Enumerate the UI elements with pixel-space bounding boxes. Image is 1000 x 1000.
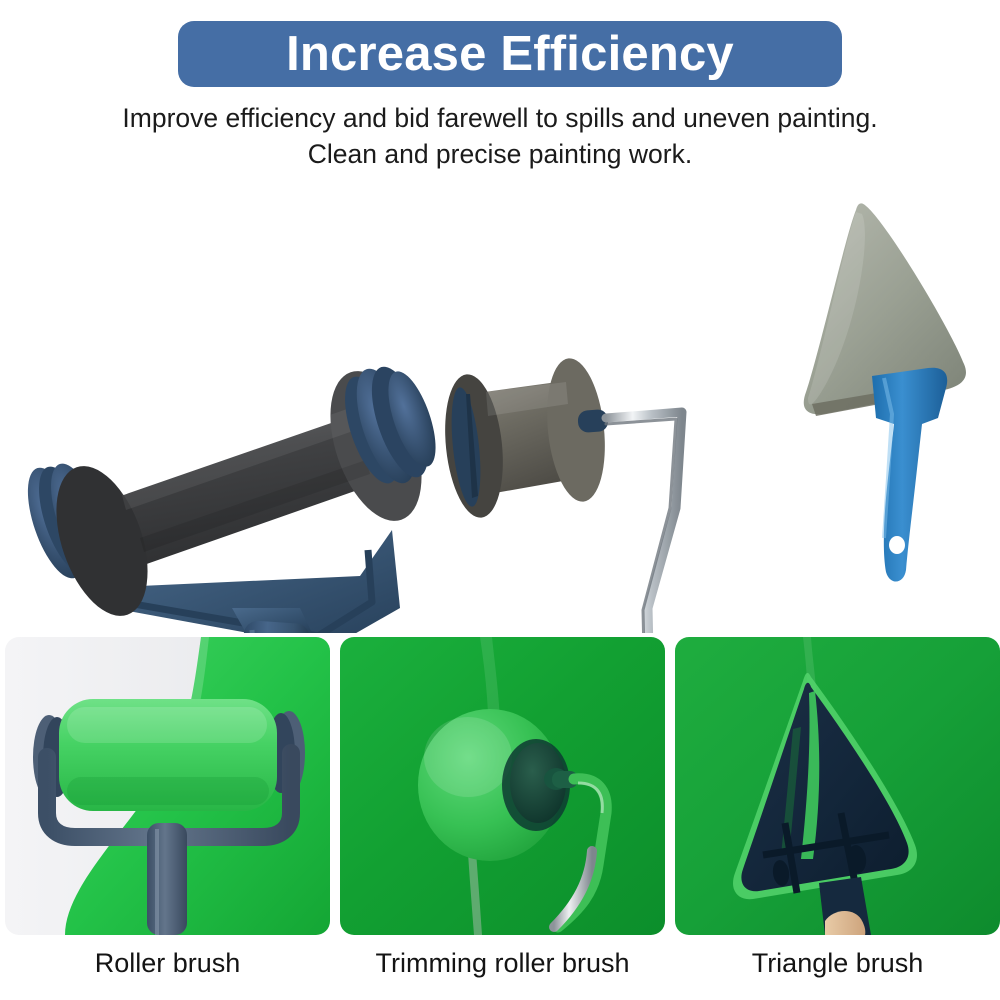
subtitle-line-1: Improve efficiency and bid farewell to s… — [0, 100, 1000, 136]
triangle-brush-hang-hole — [889, 536, 905, 554]
title-banner: Increase Efficiency — [178, 21, 842, 87]
product-roller-brush — [16, 359, 445, 633]
trimming-roller-wire-frame — [606, 412, 682, 633]
usage-photo-row — [0, 637, 1000, 935]
panel-captions: Roller brush Trimming roller brush Trian… — [0, 943, 1000, 993]
subtitle-line-2: Clean and precise painting work. — [0, 136, 1000, 172]
caption-trimming-roller-brush: Trimming roller brush — [340, 943, 665, 983]
hero-product-row — [0, 178, 1000, 633]
caption-triangle-brush: Triangle brush — [675, 943, 1000, 983]
product-feature-image: Increase Efficiency Improve efficiency a… — [0, 0, 1000, 1000]
triangle-brush-handle — [872, 368, 947, 582]
panel1-handle — [147, 823, 187, 935]
product-trimming-roller-brush — [439, 355, 701, 633]
panel-roller-brush — [5, 637, 330, 935]
product-triangle-brush — [804, 203, 966, 581]
caption-roller-brush: Roller brush — [5, 943, 330, 983]
subtitle: Improve efficiency and bid farewell to s… — [0, 100, 1000, 172]
page-title: Increase Efficiency — [286, 30, 734, 79]
panel-triangle-brush — [675, 637, 1000, 935]
panel-trimming-roller-brush — [340, 637, 665, 935]
